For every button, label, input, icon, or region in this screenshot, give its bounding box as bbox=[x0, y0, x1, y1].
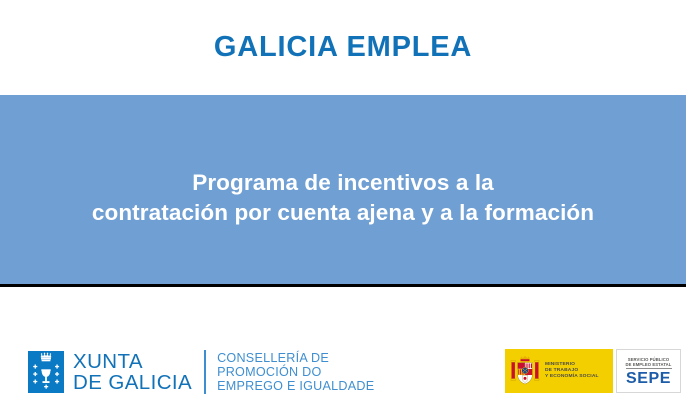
gobierno-de-espana-logo: MINISTERIO DE TRABAJO Y ECONOMÍA SOCIAL … bbox=[505, 349, 681, 393]
xunta-wordmark-line-1: XUNTA bbox=[73, 351, 192, 372]
xunta-coat-of-arms-icon bbox=[28, 351, 64, 393]
xunta-de-galicia-logo: XUNTA DE GALICIA CONSELLERÍA DE PROMOCIÓ… bbox=[28, 350, 374, 394]
ministerio-block: MINISTERIO DE TRABAJO Y ECONOMÍA SOCIAL bbox=[505, 349, 613, 393]
conselleria-line-1: CONSELLERÍA DE bbox=[217, 351, 374, 365]
program-banner: Programa de incentivos a la contratación… bbox=[0, 95, 686, 284]
ministerio-text: MINISTERIO DE TRABAJO Y ECONOMÍA SOCIAL bbox=[545, 362, 599, 381]
conselleria-line-3: EMPREGO E IGUALDADE bbox=[217, 379, 374, 393]
ministerio-line-3: Y ECONOMÍA SOCIAL bbox=[545, 374, 599, 380]
xunta-wordmark-line-2: DE GALICIA bbox=[73, 372, 192, 393]
page-title: GALICIA EMPLEA bbox=[214, 31, 472, 64]
conselleria-line-2: PROMOCIÓN DO bbox=[217, 365, 374, 379]
banner-text-block: Programa de incentivos a la contratación… bbox=[0, 168, 686, 228]
sepe-block: SERVICIO PÚBLICO DE EMPLEO ESTATAL SEPE bbox=[616, 349, 681, 393]
spain-coat-of-arms-icon bbox=[510, 354, 540, 388]
title-zone: GALICIA EMPLEA bbox=[0, 0, 686, 95]
banner-line-2: contratación por cuenta ajena y a la for… bbox=[14, 198, 672, 228]
logo-divider bbox=[204, 350, 206, 394]
banner-line-1: Programa de incentivos a la bbox=[14, 168, 672, 198]
sepe-acronym: SEPE bbox=[626, 370, 671, 387]
sepe-divider bbox=[626, 368, 672, 369]
sepe-tagline-line-2: DE EMPLEO ESTATAL bbox=[626, 362, 672, 367]
xunta-wordmark: XUNTA DE GALICIA bbox=[73, 351, 192, 393]
conselleria-text: CONSELLERÍA DE PROMOCIÓN DO EMPREGO E IG… bbox=[217, 351, 374, 393]
sepe-tagline: SERVICIO PÚBLICO DE EMPLEO ESTATAL bbox=[626, 357, 672, 367]
